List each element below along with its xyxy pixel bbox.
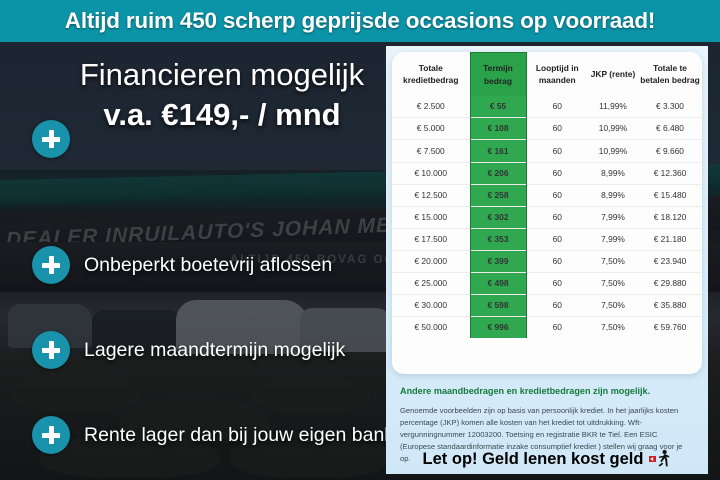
cell-total-credit: € 12.500 [392,184,470,206]
cell-total-payable: € 21.180 [638,228,702,250]
cell-duration: 60 [526,228,588,250]
promo-bullet-label: Lagere maandtermijn mogelijk [84,339,345,362]
cell-apr: 7,99% [588,228,638,250]
cell-total-credit: € 20.000 [392,250,470,272]
plus-icon [32,246,70,284]
rates-table: Totale kredietbedrag Termijn bedrag Loop… [392,52,702,338]
plus-icon [32,331,70,369]
cell-total-payable: € 3.300 [638,96,702,118]
cell-duration: 60 [526,184,588,206]
legal-warning-text: Let op! Geld lenen kost geld [423,450,644,469]
cell-total-payable: € 18.120 [638,206,702,228]
advertisement-banner: Altijd ruim 450 scherp geprijsde occasio… [0,0,720,480]
cell-apr: 7,99% [588,206,638,228]
table-header-row: Totale kredietbedrag Termijn bedrag Loop… [392,53,702,97]
promo-bullet: Lagere maandtermijn mogelijk [32,331,345,369]
plus-icon [32,416,70,454]
promo-bullet: Onbeperkt boetevrij aflossen [32,246,332,284]
cell-total-credit: € 15.000 [392,206,470,228]
cell-total-credit: € 10.000 [392,162,470,184]
cell-monthly-amount: € 302 [470,206,526,228]
cell-apr: 7,50% [588,250,638,272]
table-row: € 25.000€ 498607,50%€ 29.880 [392,273,702,295]
cell-apr: 10,99% [588,118,638,140]
table-row: € 20.000€ 399607,50%€ 23.940 [392,250,702,272]
cell-total-credit: € 17.500 [392,228,470,250]
cell-duration: 60 [526,273,588,295]
column-header-duration: Looptijd in maanden [526,53,588,97]
disclaimer-title: Andere maandbedragen en kredietbedragen … [400,386,692,398]
cell-apr: 8,99% [588,184,638,206]
cell-total-credit: € 2.500 [392,96,470,118]
cell-total-payable: € 59.760 [638,317,702,339]
cell-total-payable: € 35.880 [638,295,702,317]
promo-subheadline: v.a. €149,- / mnd [62,98,382,131]
cell-total-credit: € 50.000 [392,317,470,339]
rates-table-body: € 2.500€ 556011,99%€ 3.300€ 5.000€ 10860… [392,96,702,338]
rates-table-head: Totale kredietbedrag Termijn bedrag Loop… [392,53,702,97]
cell-monthly-amount: € 996 [470,317,526,339]
rates-panel: Totale kredietbedrag Termijn bedrag Loop… [386,46,708,474]
column-header-total-credit: Totale kredietbedrag [392,53,470,97]
cell-apr: 8,99% [588,162,638,184]
rates-card: Totale kredietbedrag Termijn bedrag Loop… [392,52,702,374]
cell-total-credit: € 7.500 [392,140,470,162]
table-row: € 15.000€ 302607,99%€ 18.120 [392,206,702,228]
table-row: € 30.000€ 598607,50%€ 35.880 [392,295,702,317]
legal-warning-bar: Let op! Geld lenen kost geld [386,444,708,474]
top-banner: Altijd ruim 450 scherp geprijsde occasio… [0,0,720,42]
column-header-monthly-amount: Termijn bedrag [470,53,526,97]
column-header-total-payable: Totale te betalen bedrag [638,53,702,97]
cell-total-payable: € 6.480 [638,118,702,140]
table-row: € 7.500€ 1616010,99%€ 9.660 [392,140,702,162]
cell-monthly-amount: € 258 [470,184,526,206]
cell-monthly-amount: € 353 [470,228,526,250]
top-banner-text: Altijd ruim 450 scherp geprijsde occasio… [65,8,655,34]
cell-duration: 60 [526,317,588,339]
table-row: € 12.500€ 258608,99%€ 15.480 [392,184,702,206]
cell-total-payable: € 23.940 [638,250,702,272]
cell-apr: 7,50% [588,317,638,339]
promo-copy: Financieren mogelijk v.a. €149,- / mnd O… [0,42,392,480]
cell-total-credit: € 5.000 [392,118,470,140]
cell-duration: 60 [526,118,588,140]
promo-bullet-label: Onbeperkt boetevrij aflossen [84,254,332,277]
table-row: € 50.000€ 996607,50%€ 59.760 [392,317,702,339]
cell-monthly-amount: € 399 [470,250,526,272]
cell-duration: 60 [526,206,588,228]
cell-duration: 60 [526,140,588,162]
table-row: € 5.000€ 1086010,99%€ 6.480 [392,118,702,140]
table-row: € 10.000€ 206608,99%€ 12.360 [392,162,702,184]
cell-total-payable: € 15.480 [638,184,702,206]
cell-total-payable: € 12.360 [638,162,702,184]
cell-monthly-amount: € 206 [470,162,526,184]
cell-monthly-amount: € 161 [470,140,526,162]
cell-apr: 11,99% [588,96,638,118]
cell-monthly-amount: € 108 [470,118,526,140]
cell-monthly-amount: € 55 [470,96,526,118]
cell-duration: 60 [526,162,588,184]
cell-apr: 10,99% [588,140,638,162]
cell-total-payable: € 9.660 [638,140,702,162]
cell-duration: 60 [526,250,588,272]
promo-bullet: Rente lager dan bij jouw eigen bank [32,416,394,454]
cell-total-credit: € 30.000 [392,295,470,317]
cell-monthly-amount: € 598 [470,295,526,317]
promo-bullet-label: Rente lager dan bij jouw eigen bank [84,424,394,447]
column-header-apr: JKP (rente) [588,53,638,97]
cell-total-payable: € 29.880 [638,273,702,295]
cell-apr: 7,50% [588,273,638,295]
cell-duration: 60 [526,96,588,118]
cell-duration: 60 [526,295,588,317]
promo-headline: Financieren mogelijk [62,58,382,91]
cell-apr: 7,50% [588,295,638,317]
running-man-with-money-icon [649,449,671,469]
table-row: € 17.500€ 353607,99%€ 21.180 [392,228,702,250]
cell-monthly-amount: € 498 [470,273,526,295]
cell-total-credit: € 25.000 [392,273,470,295]
table-row: € 2.500€ 556011,99%€ 3.300 [392,96,702,118]
